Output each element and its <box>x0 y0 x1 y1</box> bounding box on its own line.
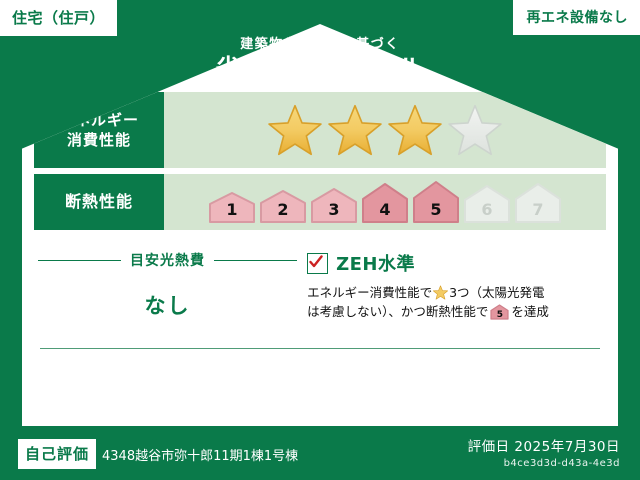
cost-rule-right <box>214 260 297 261</box>
evaluation-date: 評価日 2025年7月30日 <box>468 439 620 455</box>
zeh-checkbox <box>307 253 328 274</box>
utility-cost-heading-text: 目安光熱費 <box>130 250 205 270</box>
utility-cost-value: なし <box>38 290 297 320</box>
inline-house-number: 5 <box>490 311 509 320</box>
panel-divider <box>40 348 600 349</box>
energy-label-line1: エネルギー <box>59 110 139 130</box>
zeh-block: ZEH水準 エネルギー消費性能で3つ（太陽光発電は考慮しない）、かつ断熱性能で5… <box>303 250 602 322</box>
zeh-title: ZEH水準 <box>336 250 415 276</box>
zeh-desc-star-count: 3つ（太陽光発電 <box>449 285 544 300</box>
footer-left: 自己評価 4348越谷市弥十郎11期1棟1号棟 <box>0 439 468 469</box>
star-icon-filled-2 <box>328 103 382 157</box>
header-subtitle: 建築物省エネ法に基づく <box>240 38 400 51</box>
insulation-step-4: 4 <box>360 182 410 224</box>
star-icon-filled-3 <box>388 103 442 157</box>
utility-cost-block: 目安光熱費 なし <box>38 250 303 322</box>
inline-house-badge: 5 <box>490 304 509 320</box>
zeh-desc-part2: は考慮しない）、かつ断熱性能で <box>307 304 488 319</box>
panel-content: エネルギー 消費性能 <box>34 92 606 418</box>
evaluation-type-badge: 自己評価 <box>18 439 96 469</box>
utility-cost-heading: 目安光熱費 <box>38 250 297 270</box>
cost-rule-left <box>38 260 121 261</box>
insulation-step-6: 6 <box>462 184 512 224</box>
energy-performance-value <box>164 92 606 168</box>
star-icon-filled-1 <box>268 103 322 157</box>
zeh-heading: ZEH水準 <box>307 250 602 276</box>
evaluation-id: b4ce3d3d-d43a-4e3d <box>468 458 620 469</box>
zeh-desc-part1: エネルギー消費性能で <box>307 285 432 300</box>
insulation-performance-label: 断熱性能 <box>34 174 164 230</box>
panel-bottom-section: 目安光熱費 なし ZEH水準 エネ <box>34 236 606 322</box>
footer-right: 評価日 2025年7月30日 b4ce3d3d-d43a-4e3d <box>468 439 640 468</box>
page-title: 省エネ性能ラベル <box>216 56 424 81</box>
insulation-step-5: 5 <box>411 180 461 224</box>
badge-housing-type: 住宅（住戸） <box>0 0 117 36</box>
insulation-step-3: 3 <box>309 187 359 224</box>
inline-star-icon <box>433 285 448 300</box>
energy-label-root: 建築物省エネ法に基づく 省エネ性能ラベル 住宅（住戸） 再エネ設備なし エネルギ… <box>0 0 640 480</box>
insulation-step-7: 7 <box>513 182 563 224</box>
star-icon-empty-4 <box>448 103 502 157</box>
insulation-performance-value: 1 2 3 <box>164 174 606 230</box>
energy-performance-label: エネルギー 消費性能 <box>34 92 164 168</box>
insulation-step-scale: 1 2 3 <box>207 180 563 224</box>
energy-label-line2: 消費性能 <box>67 130 131 150</box>
energy-performance-row: エネルギー 消費性能 <box>34 92 606 168</box>
footer-band: 自己評価 4348越谷市弥十郎11期1棟1号棟 評価日 2025年7月30日 b… <box>0 428 640 480</box>
zeh-description: エネルギー消費性能で3つ（太陽光発電は考慮しない）、かつ断熱性能で5を達成 <box>307 283 602 322</box>
badge-renewable-energy: 再エネ設備なし <box>513 0 640 35</box>
insulation-step-1: 1 <box>207 191 257 224</box>
zeh-desc-part3: を達成 <box>511 304 549 319</box>
property-address: 4348越谷市弥十郎11期1棟1号棟 <box>102 445 298 464</box>
check-icon <box>309 255 323 269</box>
insulation-step-2: 2 <box>258 189 308 224</box>
star-rating <box>268 103 502 157</box>
insulation-performance-row: 断熱性能 1 2 <box>34 174 606 230</box>
